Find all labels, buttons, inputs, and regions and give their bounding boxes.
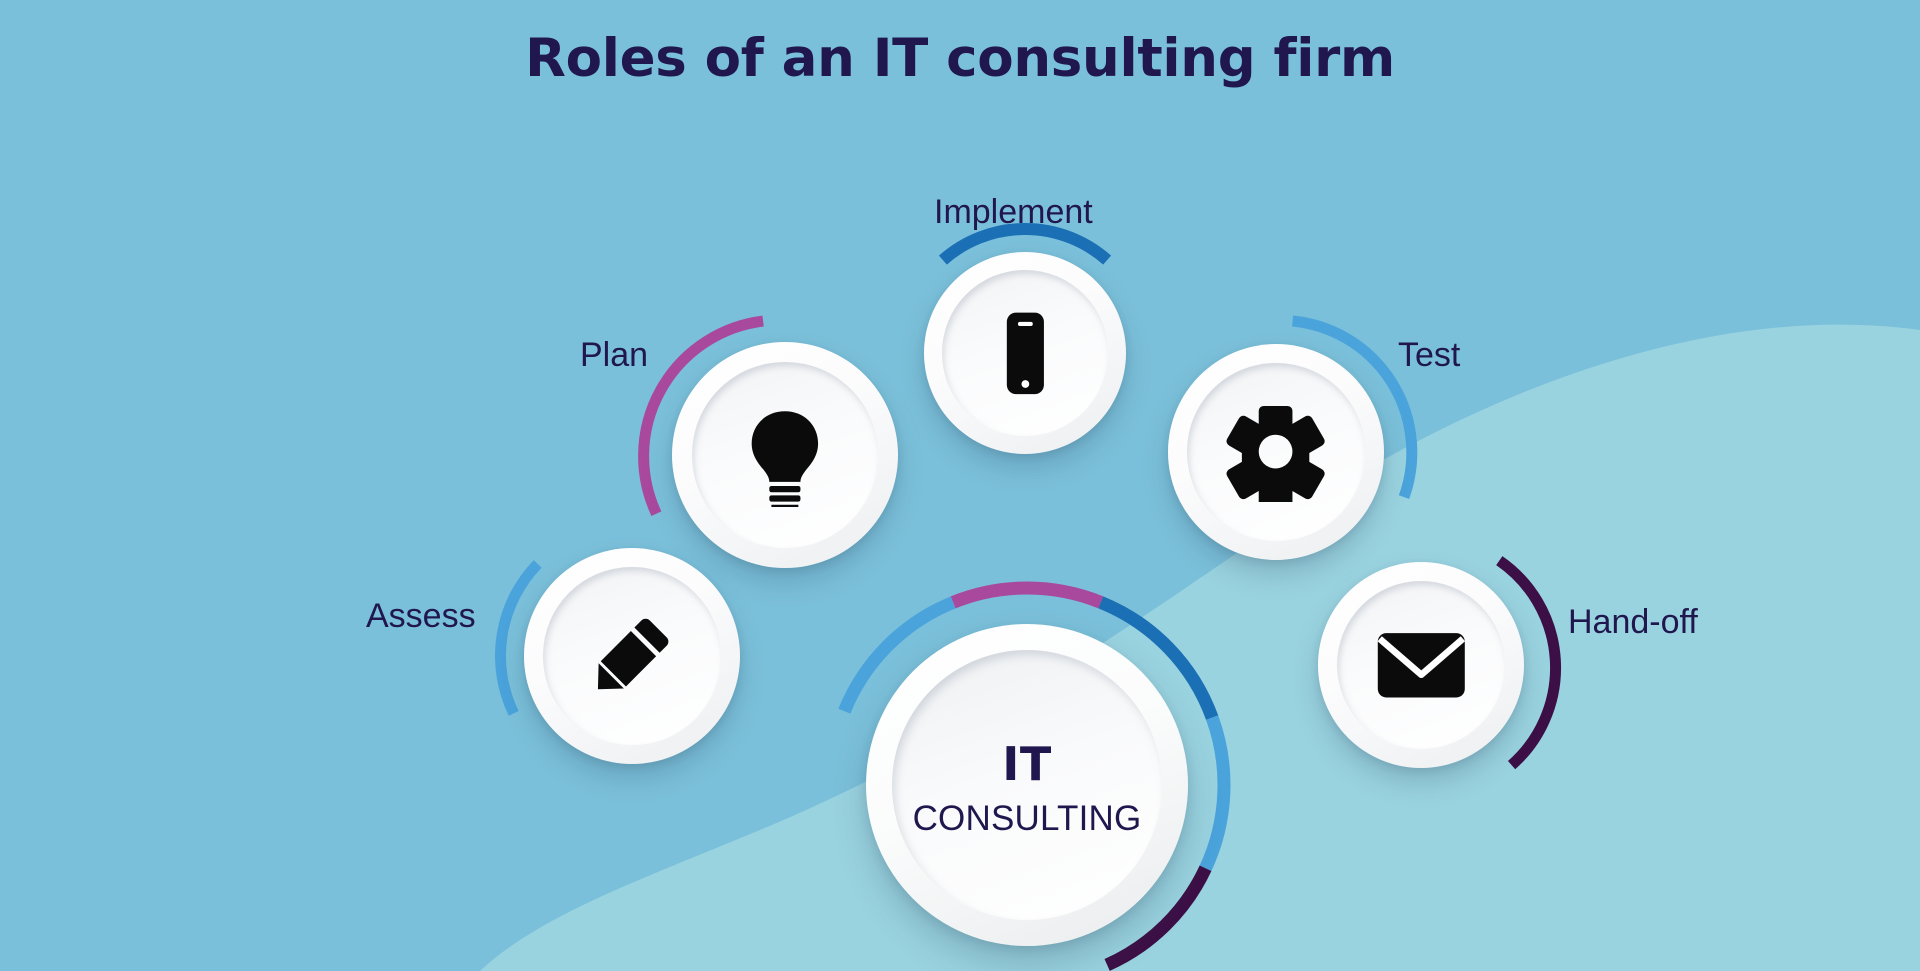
node-test[interactable] (1168, 344, 1384, 560)
label-implement: Implement (934, 193, 1093, 232)
label-assess: Assess (366, 597, 476, 636)
label-test: Test (1398, 336, 1460, 375)
node-implement-inner (942, 270, 1108, 436)
label-handoff: Hand-off (1568, 603, 1698, 642)
node-assess-inner (543, 567, 720, 744)
node-plan[interactable] (672, 342, 898, 568)
label-plan: Plan (580, 336, 648, 375)
node-implement[interactable] (924, 252, 1126, 454)
node-assess[interactable] (524, 548, 740, 764)
gear-icon (1226, 402, 1325, 501)
center-test-arc (1206, 718, 1224, 869)
center-title-it: IT (1002, 741, 1052, 787)
node-test-inner (1187, 363, 1364, 540)
mobile-phone-icon (979, 307, 1072, 400)
node-handoff-inner (1337, 581, 1506, 750)
node-center-inner: IT CONSULTING (892, 650, 1162, 920)
node-handoff[interactable] (1318, 562, 1524, 768)
center-plan-arc (953, 588, 1101, 602)
page-title: Roles of an IT consulting firm (0, 28, 1920, 89)
center-title-consulting: CONSULTING (913, 801, 1142, 836)
node-center[interactable]: IT CONSULTING (866, 624, 1188, 946)
pencil-icon (582, 606, 681, 705)
node-plan-inner (692, 362, 877, 547)
lightbulb-icon (733, 403, 837, 507)
envelope-icon (1374, 618, 1469, 713)
infographic-canvas: Roles of an IT consulting firm (0, 0, 1920, 971)
